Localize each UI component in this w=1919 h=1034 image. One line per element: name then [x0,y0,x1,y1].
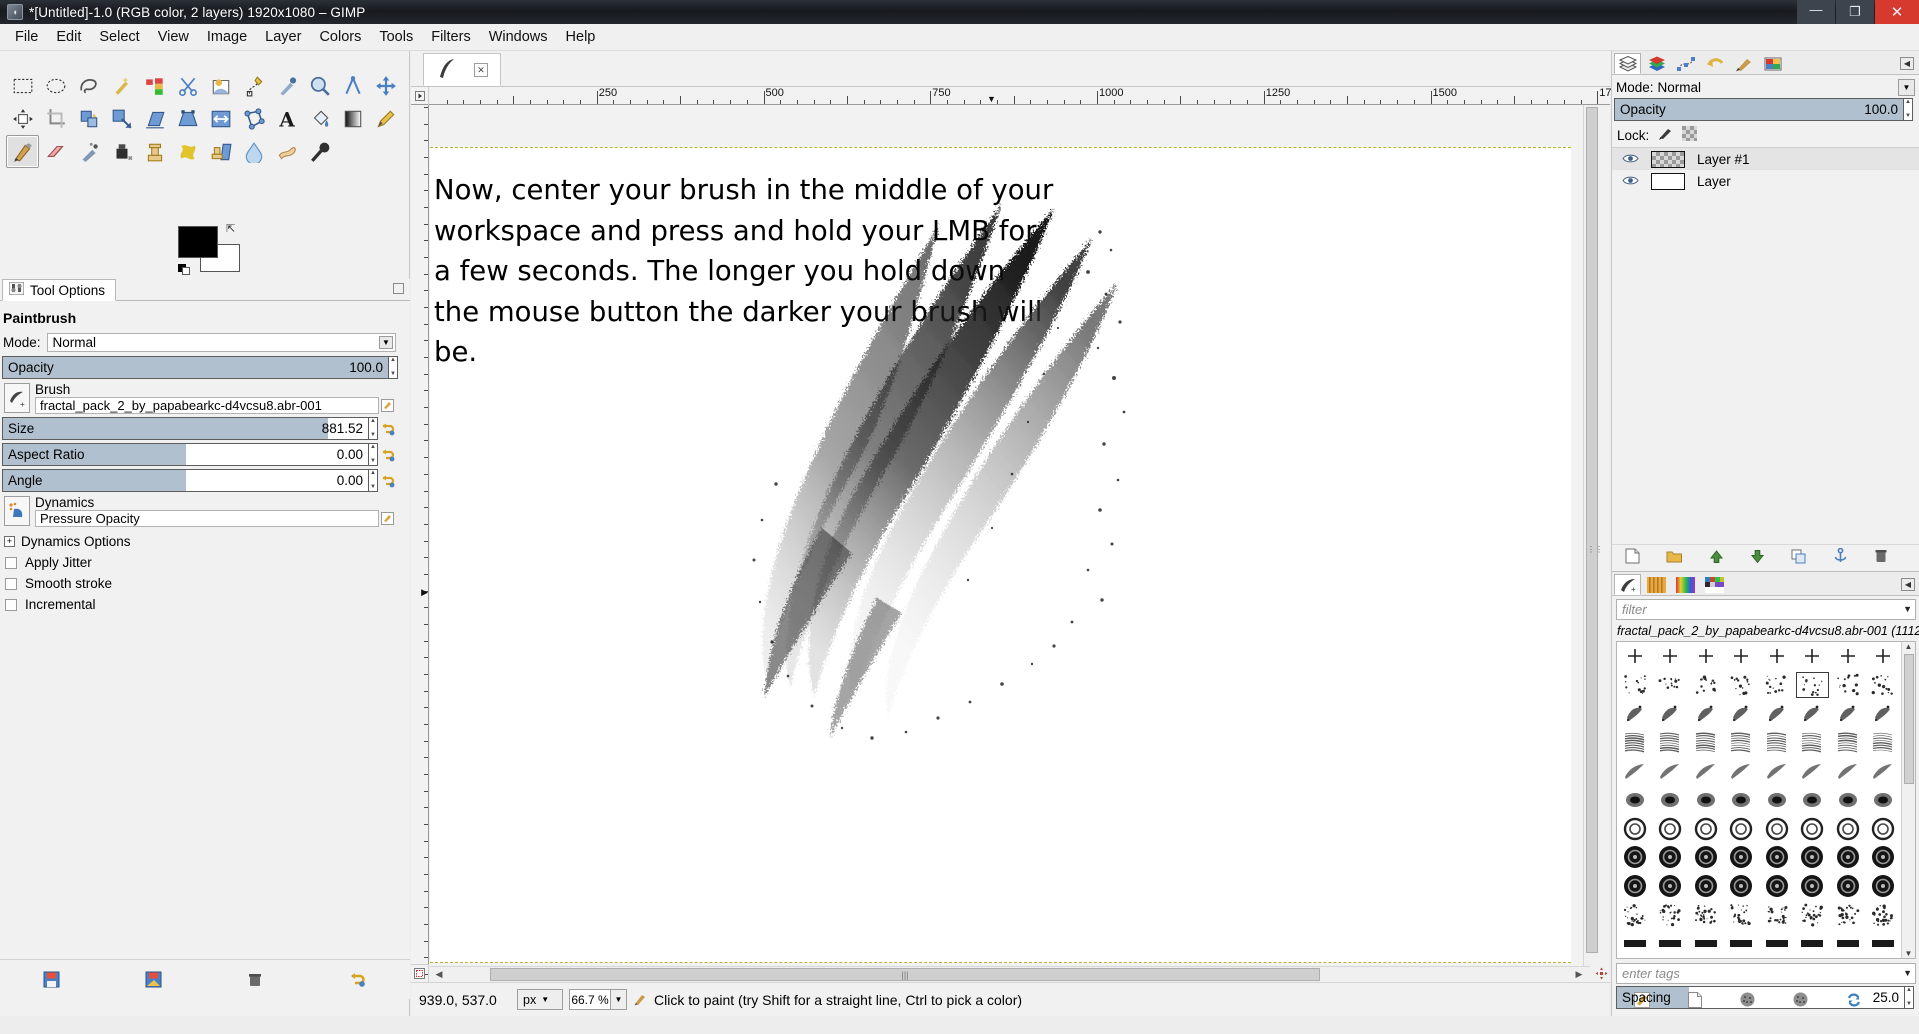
brush-cell[interactable] [1759,901,1795,930]
ruler-tick [730,100,731,104]
spin-up-icon[interactable]: ▲ [1905,100,1911,105]
ruler-tick [530,100,531,104]
brush-cell[interactable] [1866,757,1902,786]
brush-cell[interactable] [1688,786,1724,815]
spin-down-icon[interactable]: ▼ [370,459,376,464]
brush-cell[interactable] [1653,757,1689,786]
chevron-down-icon[interactable]: ▼ [1903,968,1912,978]
paths-tab[interactable] [1672,53,1699,74]
spin-up-icon[interactable]: ▲ [370,419,376,424]
canvas-horizontal-scrollbar[interactable]: ◀ ||| ▶ [430,966,1590,982]
ruler-tick [880,100,881,104]
vruler-tick [424,657,428,658]
edit-dynamics-icon[interactable] [379,496,396,527]
foreground-select-tool[interactable] [204,69,237,102]
brush-cell[interactable] [1795,642,1831,671]
eye-icon[interactable] [1622,152,1639,167]
zoom-value[interactable]: 66.7 % [569,989,611,1010]
apply-jitter-checkbox[interactable] [5,557,17,569]
canvas-area[interactable]: Now, center your brush in the middle of … [430,105,1590,1005]
brush-cell[interactable] [1617,757,1653,786]
brush-cell[interactable] [1866,814,1902,843]
vruler-tick [424,274,428,275]
close-button[interactable]: ✕ [1875,0,1919,24]
angle-value: 0.00 [337,473,368,488]
brush-cell[interactable] [1653,929,1689,958]
brush-cell[interactable] [1830,814,1866,843]
brush-cell[interactable] [1653,671,1689,700]
dynamics-options-expander[interactable]: + Dynamics Options [0,529,404,552]
brush-preview-icon [1692,671,1720,699]
brush-cell[interactable] [1795,901,1831,930]
tab-tool-options[interactable]: Tool Options [2,279,116,301]
dock-menu-icon[interactable]: ◀ [1900,57,1914,70]
brush-cell[interactable] [1830,728,1866,757]
ruler-tick [1464,100,1465,104]
menu-select[interactable]: Select [90,26,148,48]
brush-cell[interactable] [1830,872,1866,901]
angle-slider[interactable]: Angle 0.00 [2,469,369,492]
brush-cell[interactable] [1759,929,1795,958]
menu-filters[interactable]: Filters [422,26,479,48]
text-tool[interactable]: A [270,102,303,135]
spin-up-icon[interactable]: ▲ [370,445,376,450]
size-spinner[interactable]: ▲▼ [369,417,378,440]
brush-cell[interactable] [1653,843,1689,872]
zoom-tool[interactable] [303,69,336,102]
refresh-brushes-button[interactable] [1846,992,1862,1011]
brush-cell[interactable] [1724,929,1760,958]
brush-cell[interactable] [1866,929,1902,958]
brush-cell[interactable] [1830,757,1866,786]
brush-preview-icon [1727,786,1755,814]
spin-down-icon[interactable]: ▼ [370,433,376,438]
dock-menu-icon[interactable]: ◀ [1901,578,1915,591]
eraser-tool[interactable] [39,135,72,168]
ruler-tick [613,100,614,104]
brush-cell[interactable] [1617,699,1653,728]
angle-spinner[interactable]: ▲▼ [369,469,378,492]
brush-cell[interactable] [1688,929,1724,958]
vruler-tick [424,707,428,708]
brush-cell[interactable] [1866,843,1902,872]
blur-sharpen-tool[interactable] [237,135,270,168]
brush-preview-icon [1727,757,1755,785]
chevron-down-icon: ▼ [541,995,549,1004]
brush-preview-icon [1869,901,1897,929]
brush-cell[interactable] [1795,728,1831,757]
brush-cell[interactable] [1759,843,1795,872]
vruler-tick [424,941,428,942]
brush-cell[interactable] [1830,642,1866,671]
apply-jitter-row[interactable]: Apply Jitter [0,552,404,573]
brush-grid-scrollbar[interactable]: ▲ ▼ [1901,642,1915,958]
brush-cell[interactable] [1759,642,1795,671]
brush-cell[interactable] [1866,671,1902,700]
vruler-tick [424,691,428,692]
brush-cell[interactable] [1759,699,1795,728]
airbrush-tool[interactable] [72,135,105,168]
brush-cell[interactable] [1724,757,1760,786]
scroll-right-arrow-icon[interactable]: ▶ [1570,969,1588,980]
brush-cell[interactable] [1617,929,1653,958]
brush-caption: Brush [35,383,379,397]
brush-cell[interactable] [1688,901,1724,930]
tool-options-menu-icon[interactable] [393,283,404,294]
zoom-control[interactable]: 66.7 % ▼ [569,989,627,1010]
spin-down-icon[interactable]: ▼ [370,485,376,490]
perspective-tool[interactable] [171,102,204,135]
ruler-tick [1180,96,1181,104]
menu-image[interactable]: Image [198,26,256,48]
ruler-tick [1547,100,1548,104]
brush-cell[interactable] [1795,872,1831,901]
brush-cell[interactable] [1724,843,1760,872]
rect-select-tool[interactable] [6,69,39,102]
brush-cell[interactable] [1866,872,1902,901]
brush-cell[interactable] [1724,901,1760,930]
raise-layer-button[interactable] [1709,549,1724,567]
ruler-label: 1500 [1433,87,1457,99]
brush-filter-input[interactable]: filter ▼ [1616,599,1916,620]
brush-cell[interactable] [1724,872,1760,901]
shear-tool[interactable] [138,102,171,135]
vruler-tick [424,107,428,108]
brush-cell[interactable] [1724,786,1760,815]
brush-preview-icon [1692,757,1720,785]
menu-tools[interactable]: Tools [370,26,422,48]
menu-edit[interactable]: Edit [47,26,90,48]
brush-cell[interactable] [1653,786,1689,815]
brush-cell[interactable] [1617,786,1653,815]
foreground-color-swatch[interactable] [178,226,218,258]
brush-cell[interactable] [1795,814,1831,843]
ruler-tick [747,100,748,104]
navigate-canvas-icon[interactable] [1592,964,1610,982]
menu-colors[interactable]: Colors [310,26,370,48]
measure-tool[interactable] [336,69,369,102]
layer-opacity-spinner[interactable]: ▲▼ [1904,98,1913,121]
brush-cell[interactable] [1759,814,1795,843]
angle-slider-row[interactable]: Angle 0.00 ▲▼ [2,469,398,492]
brushes-tab[interactable] [1730,53,1757,74]
close-tab-icon[interactable]: ✕ [474,63,488,77]
delete-brush-button[interactable] [1793,992,1808,1010]
bucket-fill-tool[interactable] [303,102,336,135]
layer-opacity-slider-row[interactable]: Opacity 100.0 ▲▼ [1614,98,1913,121]
image-tab[interactable]: ✕ [423,53,501,86]
chevron-down-icon[interactable]: ▼ [1903,604,1912,614]
images-tab[interactable] [1759,53,1786,74]
menu-help[interactable]: Help [557,26,605,48]
brush-cell[interactable] [1795,671,1831,700]
brush-cell[interactable] [1724,671,1760,700]
brush-tags-input[interactable]: enter tags ▼ [1616,963,1916,984]
brush-cell[interactable] [1688,728,1724,757]
brush-cell[interactable] [1795,757,1831,786]
vertical-ruler[interactable]: ▶ [411,105,429,1005]
brush-picker-row: + Brush fractal_pack_2_by_papabearkc-d4v… [4,383,396,414]
brush-grid[interactable]: ▲ ▼ [1616,641,1916,959]
default-colors-icon[interactable] [178,262,191,275]
size-slider-fill [3,418,328,439]
gradient-tool[interactable] [336,102,369,135]
maximize-button[interactable]: ❐ [1836,0,1874,24]
vruler-tick [424,724,428,725]
save-tool-options-icon[interactable] [0,971,102,988]
flip-tool[interactable] [204,102,237,135]
move-tool[interactable] [369,69,402,102]
menu-file[interactable]: File [6,26,47,48]
scroll-down-arrow-icon[interactable]: ▼ [1902,949,1915,958]
paths-tool[interactable] [237,69,270,102]
ruler-label: 1250 [1266,87,1290,99]
dodge-burn-tool[interactable] [303,135,336,168]
brush-cell[interactable] [1617,814,1653,843]
scroll-up-arrow-icon[interactable]: ▲ [1902,642,1915,651]
layer-mode-dropdown[interactable]: ▼ [1898,79,1915,96]
layer-name[interactable]: Layer [1697,174,1731,189]
new-brush-button[interactable] [1688,992,1702,1011]
brush-cell[interactable] [1617,843,1653,872]
brush-cell[interactable] [1724,814,1760,843]
vruler-tick [424,357,428,358]
brush-cell[interactable] [1795,929,1831,958]
reset-tool-options-icon[interactable] [306,971,408,988]
window-titlebar: ◖ *[Untitled]-1.0 (RGB color, 2 layers) … [0,0,1919,24]
smooth-stroke-row[interactable]: Smooth stroke [0,573,404,594]
brush-cell[interactable] [1830,901,1866,930]
layer-opacity-slider[interactable]: Opacity 100.0 [1614,98,1904,121]
vruler-tick [424,407,428,408]
brush-preview-icon [1621,729,1649,757]
lower-layer-button[interactable] [1750,549,1765,567]
brush-cell[interactable] [1759,757,1795,786]
brush-cell[interactable] [1830,786,1866,815]
new-layer-group-button[interactable] [1666,549,1683,566]
patterns-tab[interactable] [1643,574,1670,595]
opacity-spinner[interactable]: ▲▼ [389,356,398,379]
lock-alpha-icon[interactable] [1682,126,1697,144]
ruler-tick [680,96,681,104]
incremental-checkbox[interactable] [5,599,17,611]
ruler-tick [830,100,831,104]
brush-preview-icon [1621,700,1649,728]
brush-preview-icon [1692,642,1720,670]
canvas-vertical-scrollbar[interactable]: ⋮⋮ [1583,105,1599,1005]
brush-cell[interactable] [1617,872,1653,901]
ink-tool[interactable] [105,135,138,168]
duplicate-brush-button[interactable] [1740,992,1755,1010]
svg-text:A: A [278,108,295,130]
chevron-down-icon[interactable]: ▼ [611,989,627,1010]
brush-cell[interactable] [1759,872,1795,901]
paintbrush-tool[interactable] [6,135,39,168]
menu-view[interactable]: View [149,26,198,48]
free-select-tool[interactable] [72,69,105,102]
brush-cell[interactable] [1759,786,1795,815]
horizontal-ruler[interactable]: 2505007501000125015001750 ▼ [411,87,1610,105]
brush-cell[interactable] [1653,814,1689,843]
brush-cell[interactable] [1795,843,1831,872]
fuzzy-select-tool[interactable] [105,69,138,102]
brush-cell[interactable] [1617,728,1653,757]
heal-tool[interactable] [171,135,204,168]
brush-cell[interactable] [1866,786,1902,815]
brush-cell[interactable] [1830,671,1866,700]
layer-name[interactable]: Layer #1 [1697,152,1750,167]
layer-row[interactable]: Layer #1 [1612,148,1919,170]
brush-cell[interactable] [1653,728,1689,757]
undo-history-tab[interactable] [1701,53,1728,74]
size-slider-row[interactable]: Size 881.52 ▲▼ [2,417,398,440]
brush-preview-icon [1834,901,1862,929]
spin-down-icon[interactable]: ▼ [1905,114,1911,119]
brush-cell[interactable] [1724,699,1760,728]
brush-cell[interactable] [1866,699,1902,728]
horizontal-scroll-track[interactable]: ||| [490,968,1530,981]
brush-cell[interactable] [1866,728,1902,757]
select-by-color-tool[interactable] [138,69,171,102]
dynamics-value[interactable]: Pressure Opacity [35,510,379,527]
brush-cell[interactable] [1688,814,1724,843]
dynamics-preview-icon[interactable] [4,496,30,526]
color-picker-tool[interactable] [270,69,303,102]
aspect-ratio-slider-row[interactable]: Aspect Ratio 0.00 ▲▼ [2,443,398,466]
ruler-corner-icon[interactable] [411,87,429,105]
brush-preview-icon[interactable]: + [4,383,30,413]
brush-preview-icon [1692,815,1720,843]
menu-layer[interactable]: Layer [256,26,310,48]
anchor-layer-button[interactable] [1833,548,1848,567]
brush-cell[interactable] [1688,699,1724,728]
eye-icon[interactable] [1622,174,1639,189]
brush-cell[interactable] [1688,642,1724,671]
paint-mode-select[interactable]: Normal ▼ [47,333,396,352]
reset-aspect-ratio-icon[interactable] [378,443,398,466]
brush-scroll-thumb[interactable] [1904,654,1914,784]
scroll-left-arrow-icon[interactable]: ◀ [430,969,448,980]
edit-brush-icon[interactable] [379,383,396,414]
brush-cell[interactable] [1795,786,1831,815]
brush-cell[interactable] [1759,728,1795,757]
perspective-clone-tool[interactable] [204,135,237,168]
brush-cell[interactable] [1688,671,1724,700]
duplicate-layer-button[interactable] [1791,549,1807,567]
brush-cell[interactable] [1688,757,1724,786]
brush-cell[interactable] [1830,843,1866,872]
new-layer-button[interactable] [1625,548,1640,567]
quick-mask-icon[interactable] [411,964,429,982]
ruler-tick [1347,96,1348,104]
crop-tool[interactable] [39,102,72,135]
brush-cell[interactable] [1617,901,1653,930]
vruler-tick [424,374,428,375]
ruler-tick [980,100,981,104]
minimize-button[interactable]: — [1797,0,1835,24]
layers-tab[interactable] [1614,53,1641,74]
delete-tool-options-icon[interactable] [204,971,306,988]
brush-cell[interactable] [1866,642,1902,671]
channels-tab[interactable] [1643,53,1670,74]
scissors-select-tool[interactable] [171,69,204,102]
ellipse-select-tool[interactable] [39,69,72,102]
brush-cell[interactable] [1688,843,1724,872]
canvas-image[interactable]: Now, center your brush in the middle of … [430,147,1571,963]
brush-cell[interactable] [1759,671,1795,700]
brush-preview-icon [1798,757,1826,785]
brush-preview-icon [1727,642,1755,670]
scale-tool[interactable] [105,102,138,135]
alignment-tool[interactable] [6,102,39,135]
brush-preview-icon [1869,872,1897,900]
opacity-slider-row[interactable]: Opacity 100.0 ▲▼ [2,356,398,379]
ruler-label: 500 [766,87,784,99]
menu-windows[interactable]: Windows [480,26,557,48]
layer-mode-value: Normal [1658,80,1894,95]
layer-row[interactable]: Layer [1612,170,1919,192]
rotate-tool[interactable] [72,102,105,135]
vruler-tick [424,307,428,308]
aspect-ratio-slider[interactable]: Aspect Ratio 0.00 [2,443,369,466]
cage-transform-tool[interactable] [237,102,270,135]
window-title: *[Untitled]-1.0 (RGB color, 2 layers) 19… [29,5,365,20]
brush-cell[interactable] [1724,728,1760,757]
clone-tool[interactable] [138,135,171,168]
brush-cell[interactable] [1617,642,1653,671]
brushes-tab[interactable]: + [1614,574,1641,595]
unit-selector[interactable]: px ▼ [517,989,563,1010]
brush-cell[interactable] [1866,901,1902,930]
smooth-stroke-checkbox[interactable] [5,578,17,590]
aspect-ratio-spinner[interactable]: ▲▼ [369,443,378,466]
horizontal-scroll-thumb[interactable]: ||| [490,968,1320,981]
smudge-tool[interactable] [270,135,303,168]
brush-cell[interactable] [1653,642,1689,671]
brush-cell[interactable] [1653,901,1689,930]
brush-cell[interactable] [1653,872,1689,901]
incremental-row[interactable]: Incremental [0,594,404,615]
brush-cell[interactable] [1688,872,1724,901]
brush-cell[interactable] [1795,699,1831,728]
brush-cell[interactable] [1830,699,1866,728]
brush-value[interactable]: fractal_pack_2_by_papabearkc-d4vcsu8.abr… [35,397,379,414]
brush-cell[interactable] [1617,671,1653,700]
brush-cell[interactable] [1653,699,1689,728]
size-slider[interactable]: Size 881.52 [2,417,369,440]
brush-cell[interactable] [1830,929,1866,958]
reset-angle-icon[interactable] [378,469,398,492]
reset-size-icon[interactable] [378,417,398,440]
lock-pixels-icon[interactable] [1658,126,1673,144]
swap-colors-icon[interactable]: ⇱ [226,222,235,235]
brush-preview-icon [1834,757,1862,785]
spin-down-icon[interactable]: ▼ [390,372,396,377]
ruler-tick [1097,91,1098,104]
vertical-scroll-thumb[interactable] [1586,107,1598,953]
spin-up-icon[interactable]: ▲ [390,358,396,363]
ruler-tick [947,100,948,104]
opacity-slider[interactable]: Opacity 100.0 [2,356,389,379]
pencil-tool[interactable] [369,102,402,135]
delete-layer-button[interactable] [1874,548,1888,567]
palettes-tab[interactable] [1701,574,1728,595]
gradients-tab[interactable] [1672,574,1699,595]
vruler-tick [424,757,428,758]
spin-up-icon[interactable]: ▲ [370,471,376,476]
brush-cell[interactable] [1724,642,1760,671]
restore-tool-options-icon[interactable] [102,971,204,988]
